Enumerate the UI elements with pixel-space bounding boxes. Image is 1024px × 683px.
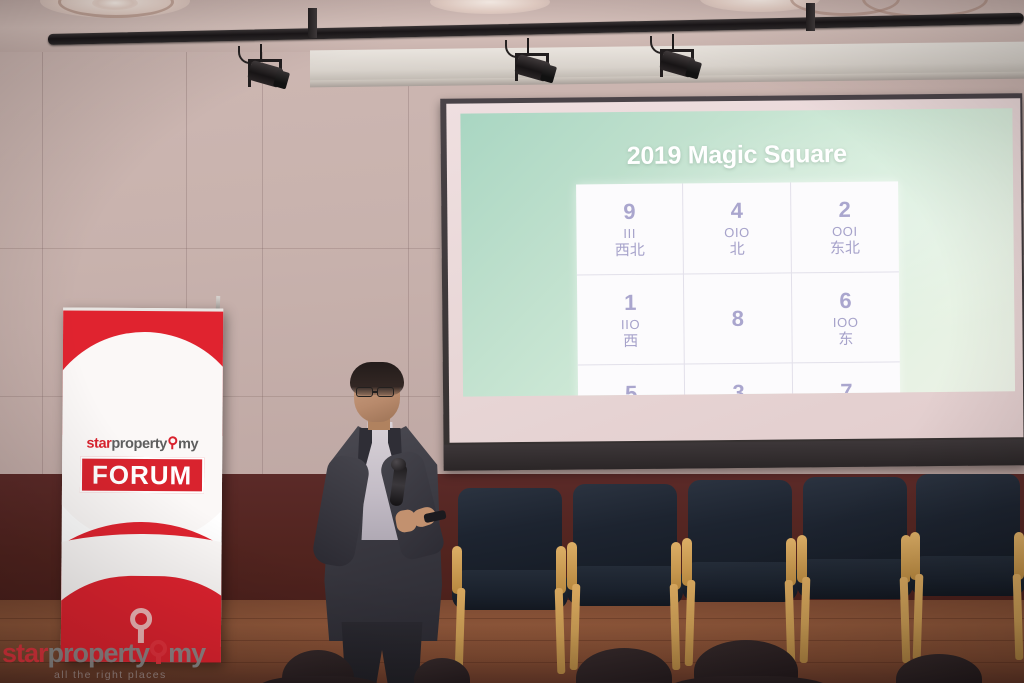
chair-seat [567,566,683,606]
chair-arm [910,532,920,580]
chair-seat [797,559,913,599]
speaker [316,360,448,683]
banner-forum-badge: FORUM [80,457,204,494]
watermark-brand: starpropertymy [2,640,205,667]
watermark-brand-property: property [48,638,150,668]
location-pin-icon [168,436,177,450]
magic-square-binary: OIO [724,226,750,241]
truss-drop-rod [308,8,317,38]
magic-square-direction: 东北 [830,241,860,258]
projection-screen-surface: 2019 Magic Square 9III西北4OIO北2OOI东北1IIO西… [446,98,1023,442]
banner-brand-star: star [86,436,111,452]
chair-back [916,474,1020,566]
magic-square-cell: 2OOI东北 [791,181,899,273]
magic-square-direction: 西北 [615,243,645,260]
truss-drop-rod [806,3,815,31]
chair-back [688,480,792,572]
watermark-brand-star: star [2,638,48,668]
magic-square-number: 8 [732,307,744,332]
presentation-slide: 2019 Magic Square 9III西北4OIO北2OOI东北1IIO西… [460,108,1015,396]
event-banner: starpropertymy FORUM [61,307,223,662]
projection-screen: 2019 Magic Square 9III西北4OIO北2OOI东北1IIO西… [440,93,1024,471]
banner-brand-my: my [178,436,198,452]
banner-logo: starpropertymy FORUM [62,435,222,493]
chair-back [803,477,907,569]
magic-square-cell: 9III西北 [576,183,684,275]
chair-seat [682,562,798,602]
magic-square-number: 2 [838,198,850,223]
magic-square-number: 6 [839,288,851,313]
chair-arm [786,538,796,586]
banner-brand-text: starpropertymy [62,435,222,452]
magic-square-binary: III [623,227,636,242]
glasses-icon [356,387,400,397]
wall-panel-seam [262,52,263,490]
chair-arm [1014,532,1024,580]
magic-square-table: 9III西北4OIO北2OOI东北1IIO西86IOO东5OOO西南3IOI南7… [576,181,901,396]
chair-arm [682,538,692,586]
magic-square-cell: 5OOO西南 [578,365,686,397]
chair-seat [910,556,1024,596]
magic-square-number: 9 [623,200,635,225]
watermark-brand-my: my [168,638,205,668]
magic-square-number: 4 [731,199,743,224]
chair-back [573,484,677,576]
magic-square-cell: 3IOI南 [685,364,793,397]
presentation-photo: 2019 Magic Square 9III西北4OIO北2OOI东北1IIO西… [0,0,1024,683]
banner-brand-property: property [111,436,167,452]
chair-arm [452,546,462,594]
magic-square-cell: 4OIO北 [683,182,791,274]
chair-arm [797,535,807,583]
magic-square-binary: IOO [833,316,859,331]
magic-square-cell: 8 [684,273,792,365]
microphone-head-icon [391,458,406,471]
banner-forum-label: FORUM [92,462,193,489]
magic-square-direction: 东 [838,332,853,349]
location-pin-icon [150,640,167,666]
magic-square-direction: 西 [623,334,638,351]
magic-square-binary: OOI [832,225,858,240]
projection-screen-bottom-bar [444,439,1024,471]
magic-square-binary: IIO [621,318,640,333]
chair-arm [556,546,566,594]
wall-panel-seam [0,248,440,249]
magic-square-number: 1 [624,290,636,315]
watermark: starpropertymy all the right places [2,640,205,681]
magic-square-direction: 北 [730,242,745,259]
magic-square-cell: 6IOO东 [792,272,900,364]
chair-back [458,488,562,580]
magic-square-cell: 7OII东南 [792,363,900,397]
magic-square-number: 3 [732,381,744,397]
chair-seat [452,570,568,610]
wall-panel-seam [42,52,43,490]
watermark-tagline: all the right places [54,669,205,681]
chair-arm [567,542,577,590]
slide-title: 2019 Magic Square [461,138,1013,172]
magic-square-number: 5 [625,382,637,397]
chair-arm [671,542,681,590]
magic-square-number: 7 [840,380,852,397]
magic-square-cell: 1IIO西 [577,274,685,366]
